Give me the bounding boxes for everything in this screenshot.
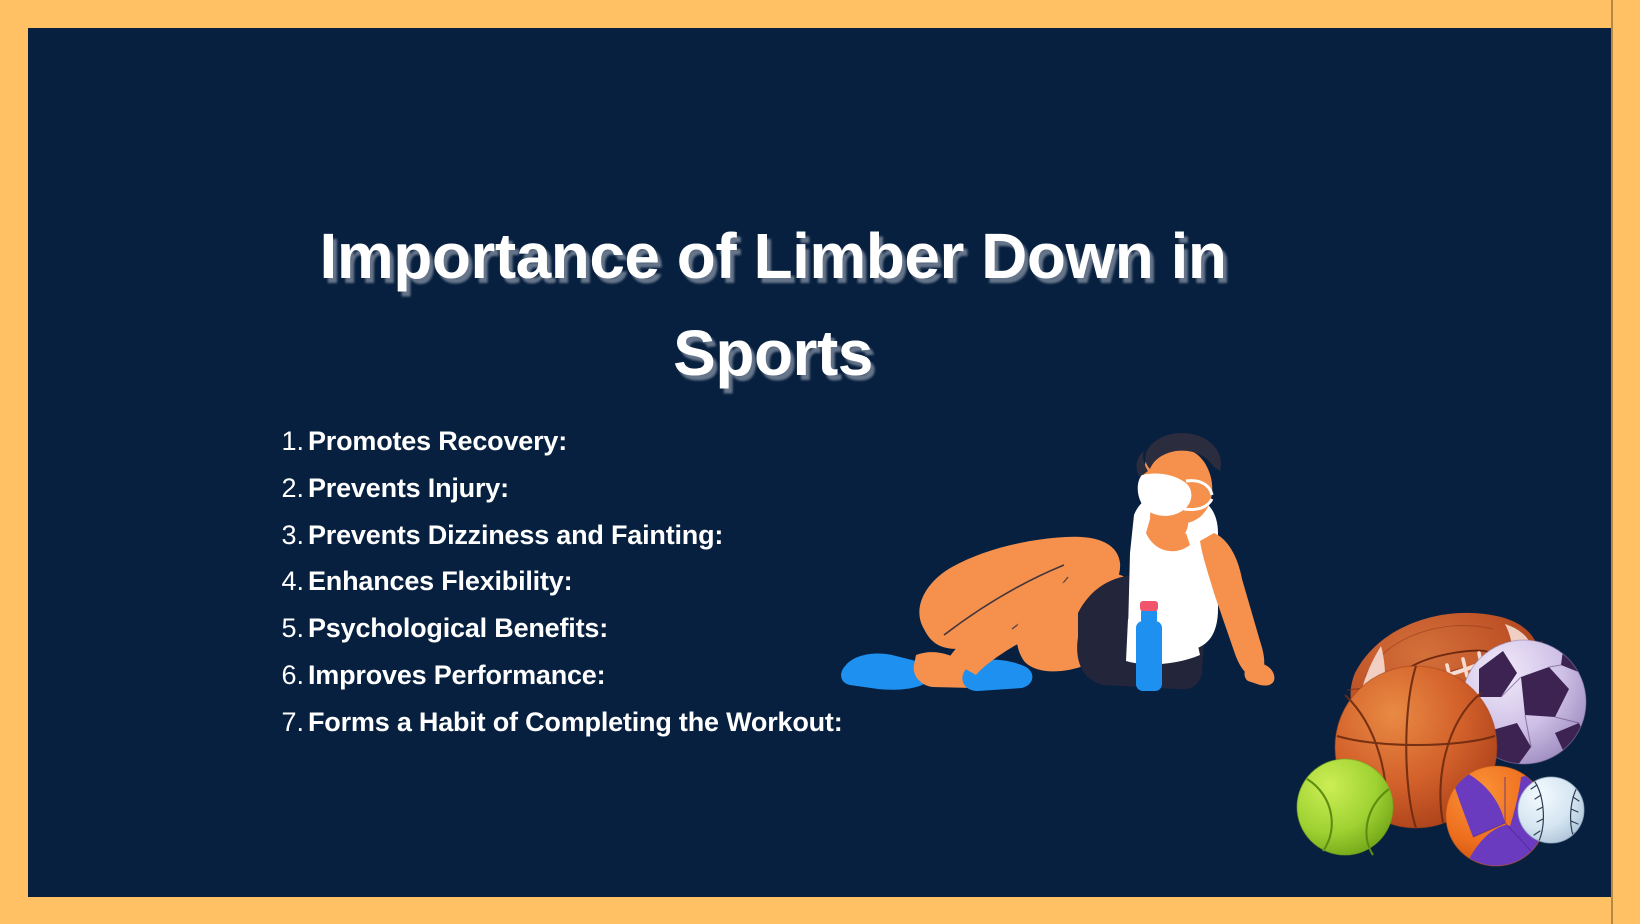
list-item-label: Improves Performance: xyxy=(308,662,605,689)
list-item-number: 3. xyxy=(268,522,304,549)
page-edge-seam xyxy=(1611,0,1613,924)
list-item-number: 6. xyxy=(268,662,304,689)
list-item-label: Promotes Recovery: xyxy=(308,428,567,455)
list-item-label: Enhances Flexibility: xyxy=(308,568,572,595)
list-item-number: 1. xyxy=(268,428,304,455)
list-item-number: 4. xyxy=(268,568,304,595)
list-item-label: Forms a Habit of Completing the Workout: xyxy=(308,709,843,736)
seated-athlete-illustration xyxy=(828,423,1298,693)
slide-title-text: Importance of Limber Down in Sports xyxy=(188,208,1358,403)
list-item-label: Psychological Benefits: xyxy=(308,615,608,642)
slide-title-line-2: Sports xyxy=(673,317,873,389)
slide-root: Importance of Limber Down in Sports 1. P… xyxy=(0,0,1640,924)
sports-balls-illustration xyxy=(1293,573,1573,863)
slide-title-line-1: Importance of Limber Down in xyxy=(320,220,1227,292)
page-title: Importance of Limber Down in Sports xyxy=(188,208,1358,403)
tennis-ball xyxy=(1297,759,1393,855)
list-item: 7. Forms a Habit of Completing the Worko… xyxy=(268,709,1068,756)
list-item-number: 2. xyxy=(268,475,304,502)
slide-content-panel: Importance of Limber Down in Sports 1. P… xyxy=(28,28,1611,897)
list-item-label: Prevents Injury: xyxy=(308,475,509,502)
list-item-number: 7. xyxy=(268,709,304,736)
list-item-number: 5. xyxy=(268,615,304,642)
list-item-label: Prevents Dizziness and Fainting: xyxy=(308,522,723,549)
